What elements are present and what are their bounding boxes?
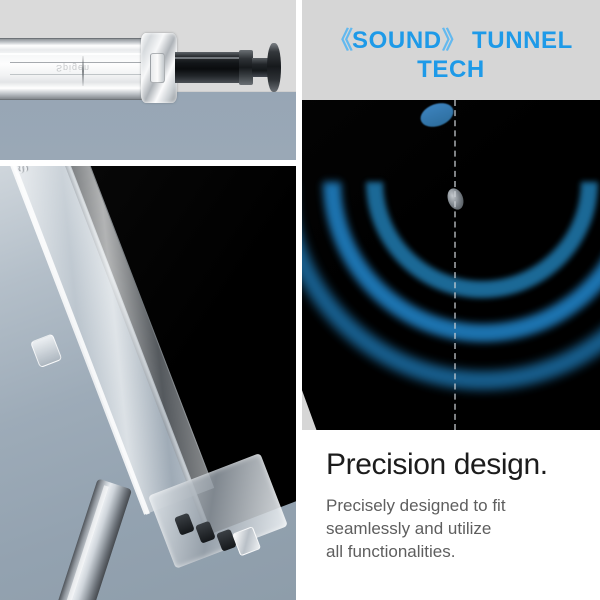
- alignment-dashed-line: [454, 100, 456, 430]
- brand-ghost-text: Spigen: [42, 62, 104, 74]
- panel-sound-tunnel-tech: 《SOUND》 TUNNEL TECH: [302, 0, 600, 430]
- case-cap-notch: [150, 53, 165, 83]
- sound-title-line-2: TECH: [302, 55, 600, 84]
- sound-tunnel-title: 《SOUND》 TUNNEL TECH: [302, 26, 600, 84]
- sound-wave-left-icon: 《: [329, 27, 352, 54]
- body-copy: Precisely designed to fit seamlessly and…: [326, 494, 576, 563]
- sound-title-word: SOUND: [352, 27, 442, 54]
- sound-wave-illustration: [302, 100, 600, 430]
- body-copy-line-1: Precisely designed to fit: [326, 494, 576, 517]
- product-collage: Spigen Spigen 《SOUND》 TUNNEL TECH: [0, 0, 600, 600]
- panel-precision-design-copy: Precision design. Precisely designed to …: [302, 436, 600, 600]
- stylus-collar: [239, 50, 253, 85]
- case-button-cutout: [30, 333, 62, 368]
- sound-title-word-tunnel: TUNNEL: [472, 27, 573, 54]
- body-copy-line-2: seamlessly and utilize: [326, 517, 576, 540]
- stylus-end-cap: [267, 43, 281, 92]
- case-inner-line-secondary: [10, 74, 160, 75]
- stylus-highlight: [175, 57, 244, 59]
- sound-title-line-1: 《SOUND》 TUNNEL: [302, 26, 600, 55]
- sound-wave-right-icon: 》: [442, 27, 465, 54]
- spen-body: [31, 478, 132, 600]
- panel-stylus-in-case: Spigen: [0, 0, 296, 160]
- body-copy-line-3: all functionalities.: [326, 540, 576, 563]
- panel-phone-corner-with-spen: Spigen: [0, 166, 296, 600]
- case-rib: [82, 56, 84, 86]
- page-title: Precision design.: [326, 448, 548, 482]
